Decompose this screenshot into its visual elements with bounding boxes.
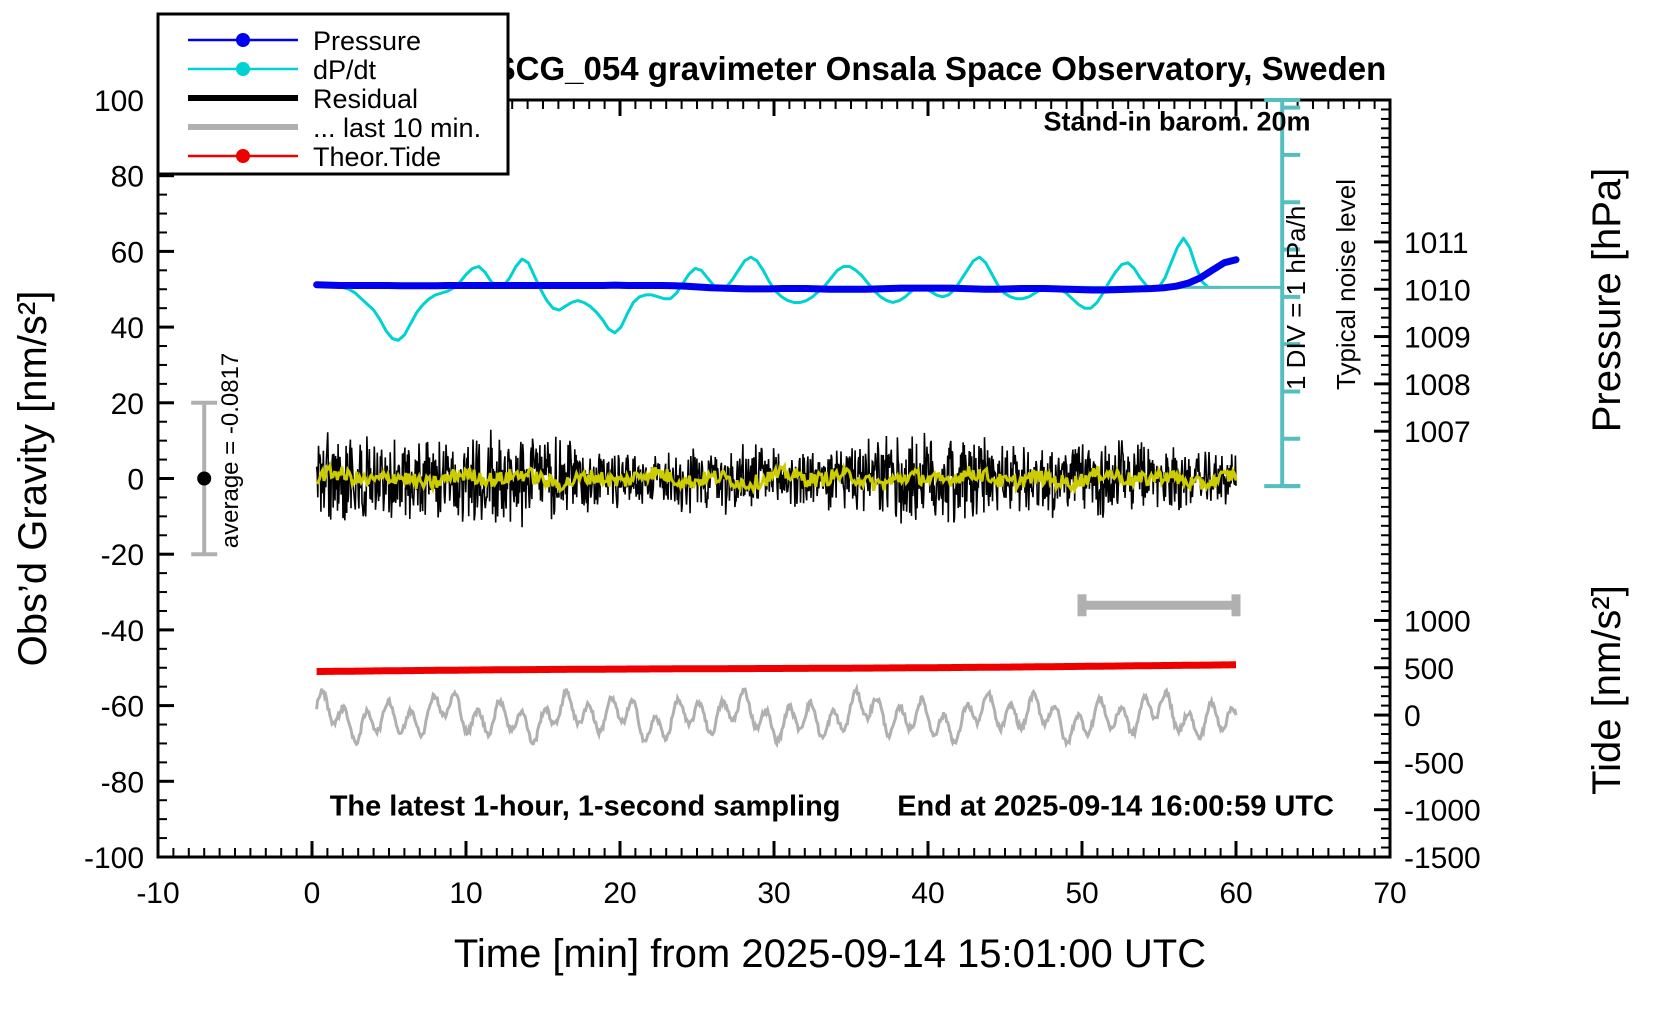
legend-label-0: Pressure (313, 26, 421, 56)
x-tick-label: -10 (136, 877, 179, 910)
annotation-sampling-note: The latest 1-hour, 1-second sampling (330, 790, 841, 822)
y-tick-label: 80 (111, 161, 144, 194)
x-tick-label: 50 (1065, 877, 1098, 910)
legend-label-3: ... last 10 min. (313, 113, 481, 143)
x-tick-label: 60 (1219, 877, 1252, 910)
tide-tick-label: 0 (1404, 700, 1421, 733)
pressure-tick-label: 1011 (1404, 227, 1469, 260)
tide-tick-label: -1000 (1404, 795, 1481, 828)
legend-label-2: Residual (313, 84, 418, 114)
legend-marker-4 (236, 149, 250, 163)
legend-marker-0 (236, 33, 250, 47)
y-tick-label: -60 (101, 691, 144, 724)
x-axis-title: Time [min] from 2025-09-14 15:01:00 UTC (454, 932, 1206, 976)
x-tick-label: 0 (304, 877, 321, 910)
annotation-standin-barom: Stand-in barom. 20m (1044, 106, 1311, 136)
tide-tick-label: 1000 (1404, 605, 1471, 638)
pressure-tick-label: 1008 (1404, 369, 1471, 402)
y-axis-title: Obs’d Gravity [nm/s²] (11, 291, 55, 667)
y-tick-label: 100 (94, 85, 144, 118)
annotation-average: Typical noise level (1331, 179, 1361, 390)
legend-label-4: Theor.Tide (313, 142, 441, 172)
pressure-tick-label: 1010 (1404, 274, 1471, 307)
tide-tick-label: 500 (1404, 653, 1454, 686)
x-tick-label: 10 (449, 877, 482, 910)
pressure-tick-label: 1009 (1404, 322, 1471, 355)
x-tick-label: 70 (1373, 877, 1406, 910)
y2-axis-title-pressure: Pressure [hPa] (1585, 168, 1629, 433)
chart-title: SCG_054 gravimeter Onsala Space Observat… (494, 50, 1387, 87)
tide-tick-label: -500 (1404, 747, 1464, 780)
y-tick-label: 0 (127, 464, 144, 497)
x-tick-label: 30 (757, 877, 790, 910)
chart-root: -10010203040506070-100-80-60-40-20020406… (0, 0, 1660, 1020)
legend-marker-1 (236, 62, 250, 76)
x-tick-label: 40 (911, 877, 944, 910)
y-tick-label: -20 (101, 539, 144, 572)
annotation-typical-noise-level: average = -0.0817 (217, 353, 244, 548)
annotation-end-time: End at 2025-09-14 16:00:59 UTC (897, 790, 1334, 822)
annotation-div-scale: 1 DIV = 1 hPa/h (1281, 206, 1311, 390)
gravimeter-chart: -10010203040506070-100-80-60-40-20020406… (0, 0, 1660, 1020)
x-tick-label: 20 (603, 877, 636, 910)
y-tick-label: -40 (101, 615, 144, 648)
y-tick-label: 20 (111, 388, 144, 421)
noise-marker-dot (197, 472, 211, 486)
pressure-tick-label: 1007 (1404, 416, 1471, 449)
y-tick-label: 60 (111, 236, 144, 269)
y-tick-label: -80 (101, 766, 144, 799)
y2-axis-title-tide: Tide [nm/s²] (1585, 585, 1629, 795)
y-tick-label: -100 (84, 842, 144, 875)
y-tick-label: 40 (111, 312, 144, 345)
tide-tick-label: -1500 (1404, 842, 1481, 875)
legend-label-1: dP/dt (313, 55, 377, 85)
